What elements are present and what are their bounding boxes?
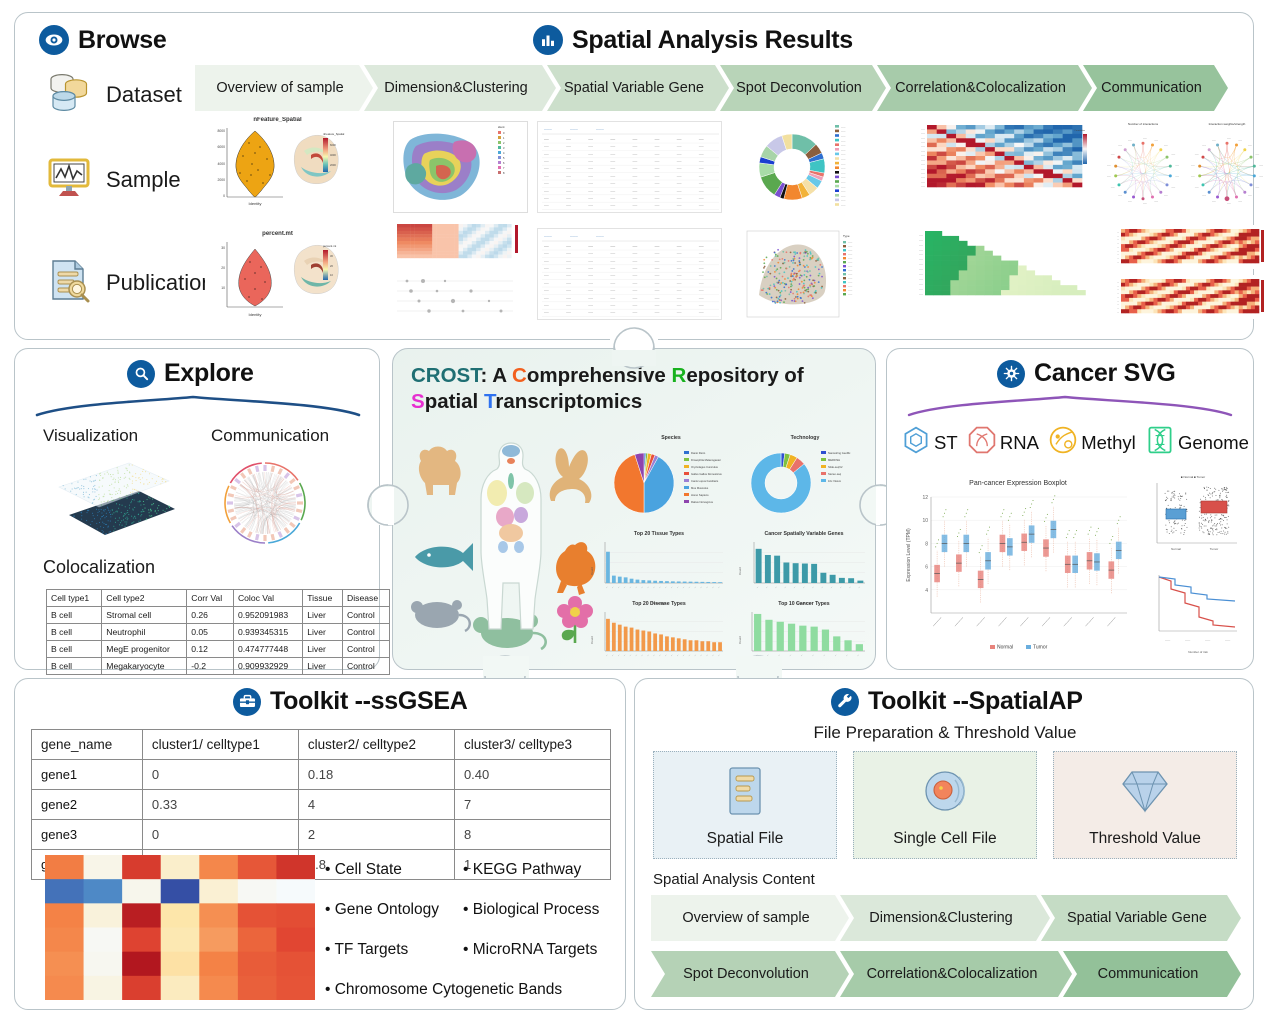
table-cell: 2 (298, 820, 454, 850)
svg-text:——: —— (633, 190, 638, 193)
svg-text:——: —— (633, 145, 638, 148)
svg-text:——: —— (699, 160, 704, 163)
svg-text:——: —— (1107, 176, 1111, 178)
svg-text:——: —— (841, 182, 846, 184)
svg-text:——: —— (841, 163, 846, 165)
table-cell: 0.18 (298, 760, 454, 790)
svg-text:——: —— (921, 142, 925, 144)
svg-text:——: —— (544, 197, 549, 200)
svg-text:—: — (1117, 293, 1119, 295)
svg-text:——: —— (610, 312, 615, 315)
chevron-step[interactable]: Correlation&Colocalization (840, 951, 1072, 997)
svg-text:——: —— (633, 312, 638, 315)
file-card-diamond[interactable]: Threshold Value (1053, 751, 1237, 859)
svg-text:——: —— (841, 205, 846, 207)
clustering-umap-plot: ident 0 1 2 3 4 5 6 7 8 (393, 121, 528, 213)
sidebar-item-dataset[interactable]: Dataset (45, 68, 182, 121)
svg-text:——: —— (921, 173, 925, 175)
svg-text:——: —— (1195, 154, 1199, 156)
rat-icon (411, 600, 470, 631)
svg-text:■ Normal ■ Tumor: ■ Normal ■ Tumor (1181, 475, 1205, 479)
table-cell: Control (343, 658, 390, 675)
svg-text:——: —— (699, 260, 704, 263)
svg-text:—: — (1117, 312, 1119, 314)
svg-text:——: —— (566, 245, 571, 248)
svg-text:——: —— (633, 267, 638, 270)
svg-text:——: —— (921, 164, 925, 166)
svg-text:——: —— (588, 282, 593, 285)
svg-text:—: — (846, 654, 849, 657)
svg-text:——: —— (610, 145, 615, 148)
svg-text:—: — (688, 654, 691, 657)
file-card-label: Threshold Value (1089, 830, 1201, 848)
svg-text:——: —— (699, 252, 704, 255)
svg-text:—: — (823, 654, 826, 657)
svg-text:——: —— (610, 197, 615, 200)
svg-text:—: — (694, 654, 697, 657)
chevron-step[interactable]: Spot Deconvolution (720, 65, 886, 111)
table-cell: 0.05 (187, 624, 234, 641)
chevron-step[interactable]: Spatial Variable Gene (547, 65, 729, 111)
svg-text:——: —— (677, 297, 682, 300)
svg-text:—: — (665, 586, 668, 589)
svg-text:——: —— (841, 150, 846, 152)
svg-text:8000: 8000 (217, 129, 225, 133)
svg-text:Homo Sapiens: Homo Sapiens (691, 493, 709, 497)
single-cell-icon (920, 752, 970, 830)
svg-text:——: —— (919, 274, 923, 276)
svg-text:—: — (1117, 300, 1119, 302)
table-row[interactable]: gene100.180.40 (32, 760, 611, 790)
chevron-step[interactable]: Spot Deconvolution (651, 951, 849, 997)
svg-text:———: ——— (996, 615, 1008, 627)
svg-text:——: —— (655, 138, 660, 141)
chevron-step[interactable]: Communication (1063, 951, 1241, 997)
svg-text:—: — (635, 586, 638, 589)
svg-text:4: 4 (925, 588, 928, 594)
svg-text:——: —— (610, 160, 615, 163)
svg-text:6: 6 (925, 565, 928, 571)
svg-text:——: —— (919, 289, 923, 291)
svg-text:——: —— (841, 173, 846, 175)
pancancer-boxplot: Pan-cancer Expression BoxplotExpression … (901, 471, 1135, 659)
svg-text:Type: Type (843, 234, 850, 238)
sidebar-item-publication[interactable]: Publication (45, 256, 214, 309)
table-cell: Liver (303, 641, 343, 658)
svg-text:———: ——— (1018, 615, 1030, 627)
svg-text:—: — (647, 654, 650, 657)
gene-set-category-list: • Cell State• KEGG Pathway• Gene Ontolog… (325, 861, 625, 999)
spatial-content-steps-row1: Overview of sampleDimension&ClusteringSp… (651, 895, 1232, 941)
svg-text:——: —— (1111, 154, 1115, 156)
chevron-step[interactable]: Spatial Variable Gene (1041, 895, 1241, 941)
rabbit-icon (550, 448, 592, 503)
svg-text:8: 8 (925, 541, 928, 547)
svg-text:———: ——— (953, 615, 965, 627)
svg-text:——: —— (699, 153, 704, 156)
table-cell: 7 (454, 790, 610, 820)
svg-text:——: —— (544, 145, 549, 148)
dog-icon (419, 447, 461, 496)
svg-text:——: —— (610, 245, 615, 248)
svg-text:——: —— (633, 260, 638, 263)
omics-chip-st[interactable]: ST (901, 425, 958, 460)
svg-text:——: —— (841, 159, 846, 161)
svg-text:Drosophila Melanogaster: Drosophila Melanogaster (691, 458, 721, 462)
svg-text:——: —— (610, 304, 615, 307)
svg-text:—: — (641, 654, 644, 657)
chevron-step-label: Spot Deconvolution (683, 966, 809, 982)
svg-text:——: —— (919, 284, 923, 286)
table-cell: 0.12 (187, 641, 234, 658)
table-header-row: gene_namecluster1/ celltype1cluster2/ ce… (32, 730, 611, 760)
file-card-label: Spatial File (707, 830, 784, 848)
svg-text:——: —— (566, 260, 571, 263)
svg-text:—: — (671, 586, 674, 589)
svg-text:——: —— (655, 245, 660, 248)
svg-text:——: —— (633, 160, 638, 163)
svg-text:——: —— (588, 289, 593, 292)
svg-text:—: — (1117, 247, 1119, 249)
svg-text:———: ——— (1062, 615, 1074, 627)
svg-text:——: —— (1107, 164, 1111, 166)
table-cell: Liver (303, 658, 343, 675)
svg-text:——: —— (841, 136, 846, 138)
svg-text:——: —— (610, 175, 615, 178)
svg-text:Count: Count (738, 636, 742, 644)
human-body-icon (481, 443, 541, 629)
svg-text:———: ——— (596, 128, 604, 131)
svg-text:——: —— (633, 252, 638, 255)
svg-text:——: —— (566, 267, 571, 270)
category-item: • MicroRNA Targets (463, 941, 597, 959)
svg-text:——: —— (1171, 186, 1175, 188)
svg-text:—: — (778, 654, 781, 657)
svg-text:—: — (789, 654, 792, 657)
svg-text:Interaction weights/strength: Interaction weights/strength (1209, 122, 1246, 126)
chevron-step-label: Spatial Variable Gene (1067, 910, 1207, 926)
violin-percentmt-plot: percent.mt 302010 Identity (205, 231, 350, 323)
svg-text:——: —— (1225, 639, 1231, 642)
svg-text:——: —— (655, 282, 660, 285)
svg-text:——: —— (544, 252, 549, 255)
table-row[interactable]: B cellMegE progenitor0.120.474777448Live… (47, 641, 390, 658)
svg-text:—: — (629, 654, 632, 657)
svg-text:——: —— (633, 138, 638, 141)
chevron-step[interactable]: Dimension&Clustering (364, 65, 556, 111)
svg-text:—: — (612, 654, 615, 657)
spatial-analysis-content-title: Spatial Analysis Content (653, 871, 815, 888)
svg-text:——: —— (677, 197, 682, 200)
chevron-step-label: Overview of sample (216, 80, 343, 96)
svg-text:——: —— (544, 312, 549, 315)
svg-text:——: —— (1227, 203, 1231, 205)
svg-text:—: — (767, 654, 770, 657)
svg-text:—: — (683, 586, 686, 589)
violin-nfeature-plot: nFeature_Spatial 80006000 400020000 Iden… (205, 117, 350, 212)
svg-text:——: —— (633, 197, 638, 200)
svg-text:——: —— (544, 138, 549, 141)
svg-text:——: —— (588, 252, 593, 255)
table-row[interactable]: B cellMegakaryocyte-0.20.909932929LiverC… (47, 658, 390, 675)
svg-text:——: —— (699, 245, 704, 248)
svg-text:nFeature_Spatial: nFeature_Spatial (323, 132, 345, 136)
svg-text:——: —— (841, 191, 846, 193)
svg-text:——: —— (566, 304, 571, 307)
cancer-svg-brace (905, 395, 1235, 419)
omics-chip-label: RNA (1000, 432, 1039, 454)
svg-text:——: —— (610, 289, 615, 292)
table-cell: 0.26 (187, 607, 234, 624)
svg-text:——: —— (848, 290, 853, 292)
svg-text:Stereo-seq: Stereo-seq (828, 472, 842, 476)
svg-text:——: —— (588, 267, 593, 270)
svg-text:—: — (653, 586, 656, 589)
svg-text:——: —— (544, 289, 549, 292)
table-header-cell: Coloc Val (233, 590, 302, 607)
svg-text:—: — (857, 654, 860, 657)
svg-text:——: —— (677, 312, 682, 315)
table-cell: B cell (47, 658, 102, 675)
table-row[interactable]: B cellStromal cell0.260.952091983LiverCo… (47, 607, 390, 624)
svg-text:——: —— (1212, 201, 1216, 203)
omics-chip-methyl[interactable]: Methyl (1048, 425, 1136, 460)
svg-text:—: — (1117, 254, 1119, 256)
svg-text:—: — (858, 586, 861, 589)
magnifier-icon (127, 360, 155, 388)
communication-heatmap-1: ————————— (1107, 225, 1267, 269)
chevron-step[interactable]: Overview of sample (651, 895, 849, 941)
svg-text:—: — (618, 586, 621, 589)
table-header-cell: cluster2/ celltype2 (298, 730, 454, 760)
svg-text:——: —— (544, 153, 549, 156)
wrench-icon (831, 688, 859, 716)
svg-text:——: —— (655, 153, 660, 156)
svg-text:——: —— (699, 304, 704, 307)
document-search-icon (45, 256, 93, 309)
svg-text:—: — (1117, 304, 1119, 306)
communication-heatmap-2: ————————— (1107, 275, 1267, 319)
svg-text:——: —— (655, 160, 660, 163)
category-item: • TF Targets (325, 941, 463, 959)
chevron-step[interactable]: Correlation&Colocalization (877, 65, 1092, 111)
svg-text:Correlation: Correlation (1074, 129, 1085, 132)
table-cell: 0 (142, 760, 298, 790)
svg-text:——: —— (655, 145, 660, 148)
chevron-step[interactable]: Dimension&Clustering (840, 895, 1050, 941)
svg-text:——: —— (566, 153, 571, 156)
svg-text:——: —— (610, 252, 615, 255)
methyl-circle-icon (1048, 425, 1078, 460)
svg-text:——: —— (841, 177, 846, 179)
chevron-step-label: Spot Deconvolution (736, 80, 862, 96)
svg-text:——: —— (610, 297, 615, 300)
svg-text:——: —— (1143, 203, 1147, 205)
svg-text:——: —— (699, 297, 704, 300)
explore-sub-communication: Communication (211, 426, 329, 446)
svg-text:—: — (718, 586, 721, 589)
svg-text:——: —— (677, 275, 682, 278)
svg-text:—: — (757, 586, 760, 589)
svg-text:4000: 4000 (217, 162, 225, 166)
svg-text:——: —— (544, 160, 549, 163)
svg-text:——: —— (633, 275, 638, 278)
table-cell: 0.952091983 (233, 607, 302, 624)
svg-text:——: —— (566, 297, 571, 300)
table-row[interactable]: gene3028 (32, 820, 611, 850)
svg-text:——: —— (1248, 195, 1252, 197)
table-row[interactable]: B cellNeutrophil0.050.939345315LiverCont… (47, 624, 390, 641)
svg-text:Nanostring GeoMx: Nanostring GeoMx (828, 451, 851, 455)
svg-text:——: —— (1154, 139, 1158, 141)
svg-text:——: —— (677, 205, 682, 208)
svg-text:—: — (831, 586, 834, 589)
crost-overview-figure: Browse Spatial Analysis Results Overview… (0, 0, 1268, 1023)
table-cell: 4 (298, 790, 454, 820)
svg-text:——: —— (655, 190, 660, 193)
chevron-step-label: Correlation&Colocalization (867, 966, 1038, 982)
svg-text:——: —— (699, 168, 704, 171)
svg-text:——: —— (841, 145, 846, 147)
svg-text:——: —— (633, 282, 638, 285)
svg-text:——: —— (1191, 164, 1195, 166)
svg-text:——: —— (1128, 201, 1132, 203)
table-row[interactable]: gene20.3347 (32, 790, 611, 820)
svg-text:—: — (629, 586, 632, 589)
svg-text:—: — (624, 654, 627, 657)
sidebar-item-sample[interactable]: Sample (45, 153, 181, 206)
svg-text:—: — (1117, 262, 1119, 264)
svg-text:—: — (803, 586, 806, 589)
svg-text:Count: Count (738, 567, 742, 575)
svg-text:—: — (1117, 289, 1119, 291)
table-cell: 0.909932929 (233, 658, 302, 675)
diamond-icon (1120, 752, 1170, 830)
svg-text:——: —— (1154, 201, 1158, 203)
browse-heading: Browse (39, 25, 167, 55)
svg-text:—: — (1117, 308, 1119, 310)
table-header-cell: gene_name (32, 730, 143, 760)
explore-heading: Explore (127, 359, 254, 388)
svg-text:—: — (677, 586, 680, 589)
svg-text:—: — (700, 654, 703, 657)
svg-text:——: —— (1165, 639, 1171, 642)
svg-text:——: —— (1248, 145, 1252, 147)
svg-text:——: —— (544, 304, 549, 307)
svg-text:——: —— (699, 275, 704, 278)
svg-text:——: —— (566, 182, 571, 185)
svg-text:——: —— (677, 289, 682, 292)
svg-text:——: —— (566, 197, 571, 200)
toolkit-ssgsea-panel: Toolkit --ssGSEA gene_namecluster1/ cell… (14, 678, 626, 1010)
technology-donut-chart: Technology Nanostring GeoMxMERFISHSlide-… (741, 435, 869, 533)
svg-text:—: — (801, 654, 804, 657)
table-cell: Liver (303, 607, 343, 624)
cancer-svg-bar-chart: Cancer Spatially Variable Genes ————————… (737, 531, 871, 609)
svg-text:——: —— (588, 205, 593, 208)
browse-title: Browse (78, 26, 167, 55)
svg-text:——: —— (848, 262, 853, 264)
svg-text:——: —— (677, 153, 682, 156)
svg-text:——: —— (566, 252, 571, 255)
svg-text:——: —— (655, 260, 660, 263)
svg-text:—: — (718, 654, 721, 657)
circos-interaction-weights: Interaction weights/strength————————————… (1185, 117, 1268, 217)
svg-text:20: 20 (221, 266, 225, 270)
svg-text:Rattus Norvegicus: Rattus Norvegicus (691, 500, 714, 504)
svg-text:——: —— (919, 259, 923, 261)
omics-chip-rna[interactable]: RNA (967, 425, 1039, 460)
svg-text:——: —— (655, 168, 660, 171)
svg-text:——: —— (544, 168, 549, 171)
file-card-single-cell[interactable]: Single Cell File (853, 751, 1037, 859)
svg-text:——: —— (1202, 145, 1206, 147)
table-cell: 0.474777448 (233, 641, 302, 658)
svg-text:——: —— (588, 245, 593, 248)
svg-text:—: — (794, 586, 797, 589)
svg-text:2000: 2000 (217, 178, 225, 182)
toolbox-icon (233, 688, 261, 716)
svg-text:——: —— (699, 197, 704, 200)
svg-text:——: —— (655, 267, 660, 270)
svg-text:Tumor: Tumor (1033, 645, 1048, 651)
svg-text:Mus Musculus: Mus Musculus (691, 486, 709, 490)
svg-text:6000: 6000 (217, 145, 225, 149)
svg-text:——: —— (1175, 176, 1179, 178)
svg-text:——: —— (848, 254, 853, 256)
svg-text:—: — (775, 586, 778, 589)
svg-text:——: —— (1255, 154, 1259, 156)
chevron-step[interactable]: Overview of sample (195, 65, 373, 111)
svg-text:—: — (1117, 239, 1119, 241)
svg-text:——: —— (610, 138, 615, 141)
svg-text:——: —— (588, 138, 593, 141)
svg-text:——: —— (544, 282, 549, 285)
table-header-cell: Tissue (303, 590, 343, 607)
file-card-spatial-file[interactable]: Spatial File (653, 751, 837, 859)
ssgsea-title: Toolkit --ssGSEA (270, 687, 468, 716)
svg-text:——: —— (699, 182, 704, 185)
chevron-step-label: Dimension&Clustering (384, 80, 527, 96)
chevron-step-label: Communication (1098, 966, 1199, 982)
svg-text:——: —— (588, 297, 593, 300)
explore-sub-colocalization: Colocalization (43, 557, 155, 578)
svg-text:—: — (1117, 282, 1119, 284)
svg-text:—: — (612, 586, 615, 589)
svg-data-table-top: ————————————————————————————————————————… (537, 121, 722, 213)
omics-chip-genome[interactable]: Genome (1145, 425, 1249, 460)
svg-text:—: — (659, 586, 662, 589)
table-cell: B cell (47, 624, 102, 641)
chevron-step[interactable]: Communication (1083, 65, 1228, 111)
svg-text:ident: ident (498, 125, 505, 129)
svg-text:10: 10 (922, 518, 928, 524)
svg-text:2000: 2000 (330, 163, 336, 167)
mouse-icon (473, 614, 546, 649)
svg-text:——: —— (699, 190, 704, 193)
svg-text:Identity: Identity (249, 312, 262, 317)
svg-text:——: —— (1238, 201, 1242, 203)
svg-text:——: —— (699, 289, 704, 292)
svg-text:—: — (821, 586, 824, 589)
table-cell: 0.40 (454, 760, 610, 790)
svg-text:Disease Type: Disease Type (651, 669, 668, 670)
svg-text:——: —— (633, 182, 638, 185)
svg-text:——: —— (588, 260, 593, 263)
deconvolution-spatial-map: Type ———————————————————————————— (737, 225, 897, 323)
svg-text:——: —— (919, 249, 923, 251)
svg-text:—: — (849, 586, 852, 589)
